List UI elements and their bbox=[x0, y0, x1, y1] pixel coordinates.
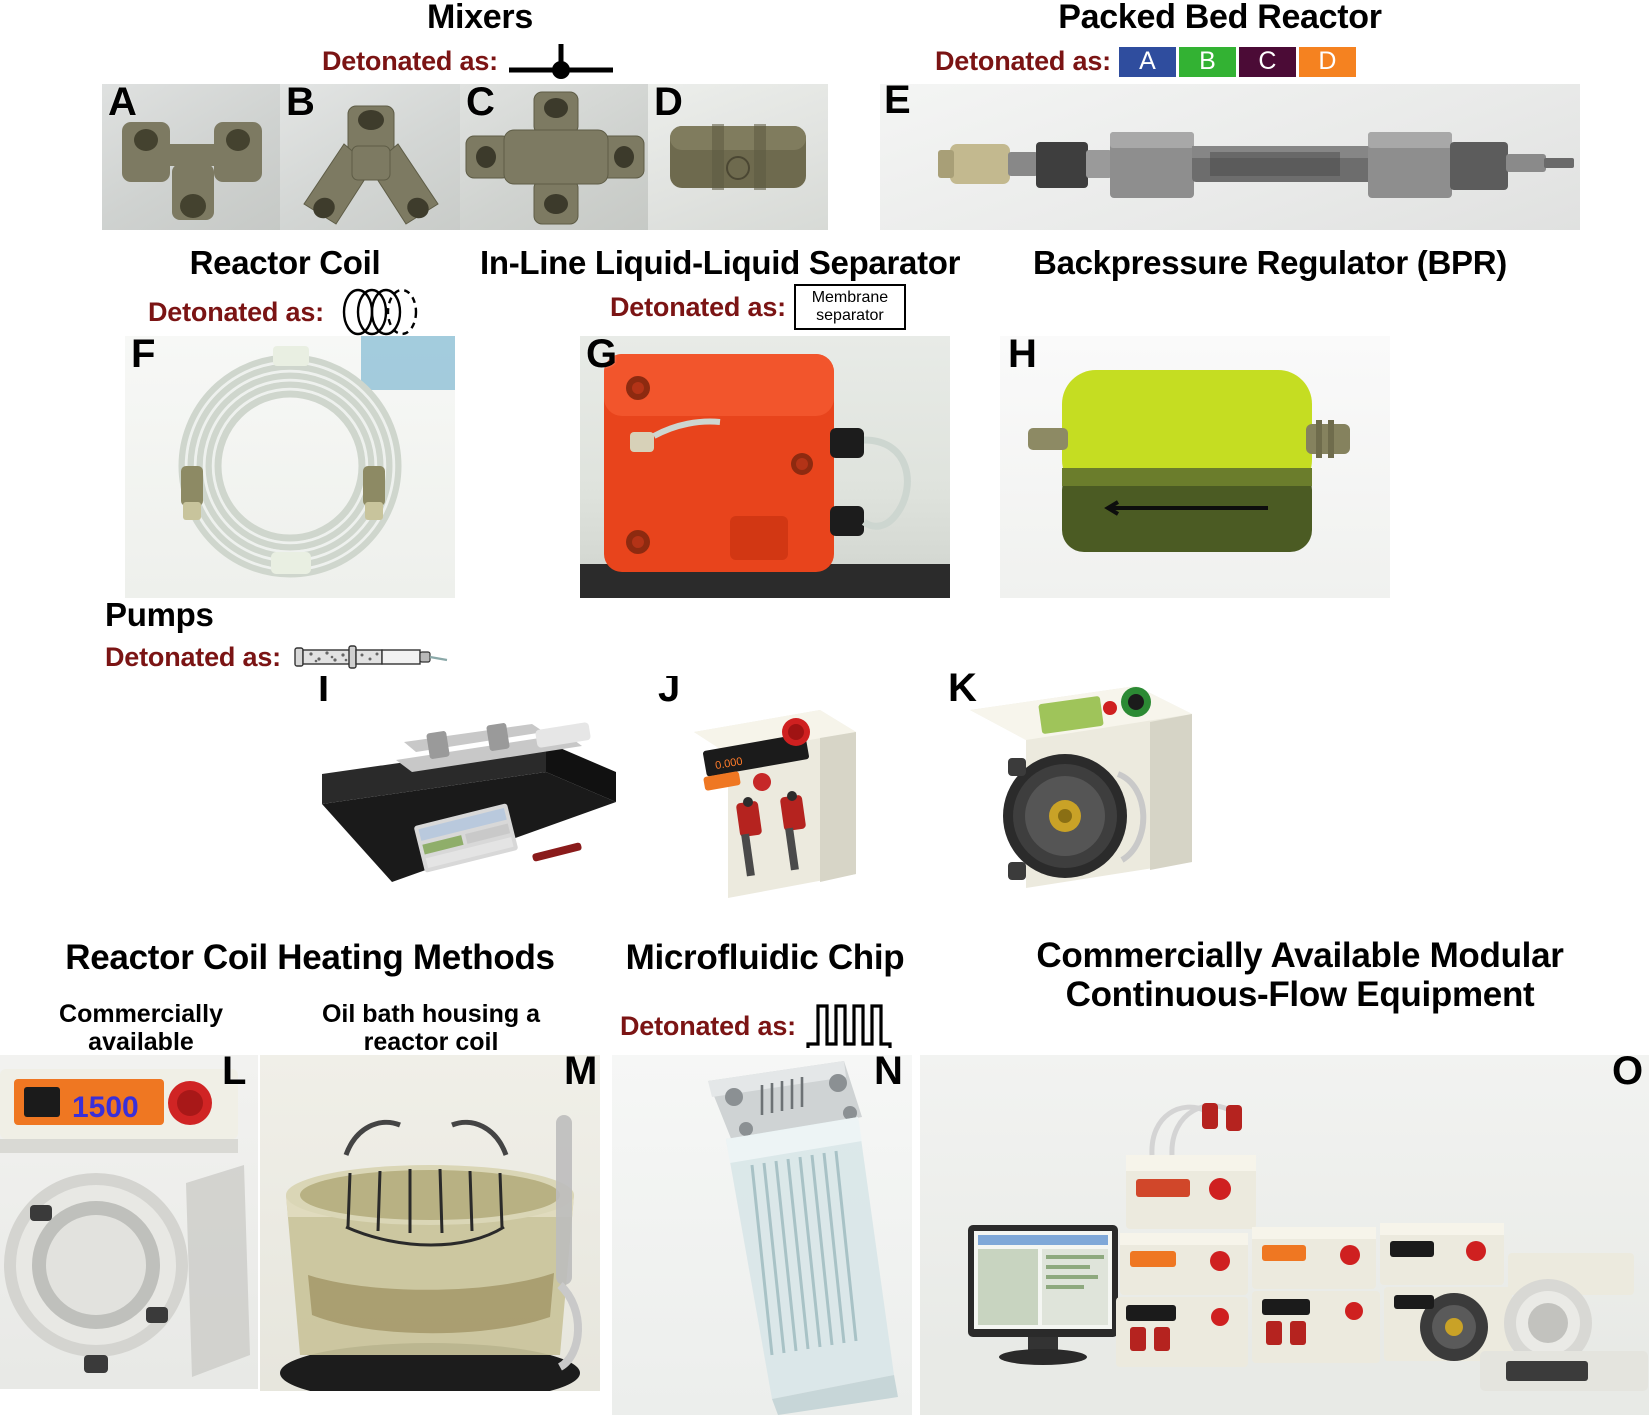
bpr-title: Backpressure Regulator (BPR) bbox=[1000, 246, 1540, 281]
panel-m-photo: M bbox=[260, 1055, 600, 1415]
figure-root: Mixers Detonated as: Packed Bed Reactor … bbox=[0, 0, 1649, 1415]
tee-mixer-icon bbox=[506, 42, 616, 80]
panel-l-photo: 1500 L bbox=[0, 1055, 258, 1415]
separator-detonated-label: Detonated as: bbox=[610, 292, 786, 323]
mixers-detonated-row: Detonated as: bbox=[322, 42, 616, 80]
packed-bed-detonated-row: Detonated as: A B C D bbox=[935, 46, 1356, 77]
separator-detonated-row: Detonated as: Membrane separator bbox=[610, 284, 906, 330]
oil-bath-subtitle-line2: reactor coil bbox=[286, 1028, 576, 1056]
panel-letter-j: J bbox=[658, 676, 680, 708]
packed-bed-chip-group: A B C D bbox=[1119, 47, 1356, 77]
panel-k-photo: K bbox=[940, 666, 1220, 918]
chip-detonated-label: Detonated as: bbox=[620, 1011, 796, 1042]
syringe-icon bbox=[289, 640, 449, 674]
packed-bed-chip-c: C bbox=[1239, 47, 1296, 77]
membrane-separator-box: Membrane separator bbox=[794, 284, 906, 330]
packed-bed-chip-a: A bbox=[1119, 47, 1176, 77]
panel-n-photo: N bbox=[612, 1055, 912, 1415]
microfluidic-chip-title: Microfluidic Chip bbox=[610, 940, 920, 977]
panel-letter-f: F bbox=[131, 336, 155, 374]
modular-equipment-title-line1: Commercially Available Modular bbox=[960, 936, 1640, 975]
panel-letter-k: K bbox=[948, 668, 977, 708]
chip-detonated-row: Detonated as: bbox=[620, 1000, 894, 1052]
panel-h-photo: H bbox=[1000, 336, 1390, 598]
panel-letter-h: H bbox=[1008, 336, 1037, 374]
modular-equipment-title-line2: Continuous-Flow Equipment bbox=[960, 975, 1640, 1014]
panel-letter-c: C bbox=[466, 84, 495, 122]
panel-i-photo: I bbox=[300, 676, 630, 916]
pumps-detonated-row: Detonated as: bbox=[105, 640, 449, 674]
panel-letter-o: O bbox=[1612, 1055, 1643, 1091]
panel-letter-m: M bbox=[564, 1055, 597, 1091]
membrane-separator-line2: separator bbox=[816, 307, 884, 325]
panel-d-photo: D bbox=[648, 84, 828, 230]
reactor-coil-title: Reactor Coil bbox=[150, 246, 420, 281]
mixers-title: Mixers bbox=[330, 0, 630, 36]
separator-title: In-Line Liquid-Liquid Separator bbox=[480, 246, 960, 281]
panel-letter-l: L bbox=[222, 1055, 246, 1091]
panel-a-photo: A bbox=[102, 84, 282, 230]
membrane-separator-line1: Membrane bbox=[812, 289, 888, 307]
panel-o-photo: O bbox=[920, 1055, 1649, 1415]
panel-letter-i: I bbox=[318, 676, 329, 708]
coil-spiral-icon bbox=[332, 286, 428, 338]
heating-title: Reactor Coil Heating Methods bbox=[20, 940, 600, 977]
modular-equipment-title: Commercially Available Modular Continuou… bbox=[960, 936, 1640, 1014]
panel-c-photo: C bbox=[460, 84, 650, 230]
svg-text:1500: 1500 bbox=[72, 1091, 139, 1124]
panel-letter-b: B bbox=[286, 84, 315, 122]
packed-bed-detonated-label: Detonated as: bbox=[935, 46, 1111, 77]
packed-bed-title: Packed Bed Reactor bbox=[1000, 0, 1440, 36]
panel-letter-e: E bbox=[884, 84, 911, 120]
panel-b-photo: B bbox=[280, 84, 460, 230]
packed-bed-chip-b: B bbox=[1179, 47, 1236, 77]
pumps-detonated-label: Detonated as: bbox=[105, 642, 281, 673]
packed-bed-chip-d: D bbox=[1299, 47, 1356, 77]
panel-f-photo: F bbox=[125, 336, 455, 598]
panel-g-photo: G bbox=[580, 336, 950, 598]
reactor-coil-detonated-label: Detonated as: bbox=[148, 297, 324, 328]
panel-letter-a: A bbox=[108, 84, 137, 122]
panel-e-photo: E bbox=[880, 84, 1580, 230]
panel-letter-g: G bbox=[586, 336, 617, 374]
serpentine-channel-icon bbox=[804, 1000, 894, 1052]
panel-letter-n: N bbox=[874, 1055, 903, 1091]
panel-j-photo: 0.000 J bbox=[650, 676, 890, 916]
thermal-jacket-subtitle-line1: Commercially available bbox=[6, 1000, 276, 1056]
panel-letter-d: D bbox=[654, 84, 683, 122]
pumps-title: Pumps bbox=[105, 598, 285, 633]
reactor-coil-detonated-row: Detonated as: bbox=[148, 286, 428, 338]
mixers-detonated-label: Detonated as: bbox=[322, 46, 498, 77]
oil-bath-subtitle-line1: Oil bath housing a bbox=[286, 1000, 576, 1028]
oil-bath-subtitle: Oil bath housing a reactor coil bbox=[286, 1000, 576, 1056]
